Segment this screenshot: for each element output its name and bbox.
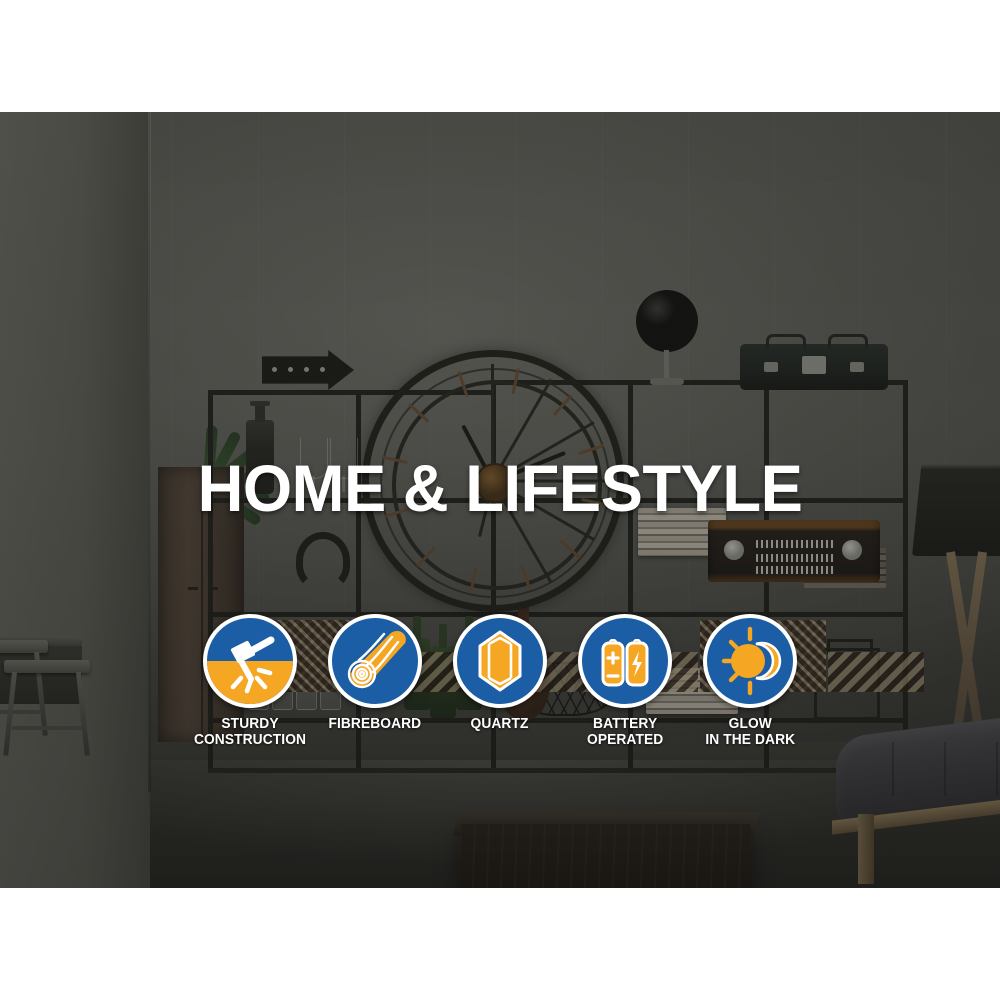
feature-badge-row: STURDY CONSTRUCTION	[0, 614, 1000, 748]
feature-badge-glow-in-the-dark[interactable]: GLOW IN THE DARK	[702, 614, 798, 748]
hammer-icon	[207, 618, 293, 704]
globe	[636, 290, 698, 352]
horseshoe-decor	[296, 532, 350, 590]
globe-base	[650, 378, 684, 385]
battery-icon	[582, 618, 668, 704]
badge-disc	[203, 614, 297, 708]
feature-badge-quartz[interactable]: QUARTZ	[452, 614, 548, 733]
feature-badge-sturdy-construction[interactable]: STURDY CONSTRUCTION	[202, 614, 298, 748]
shelf-base-rail	[208, 768, 908, 773]
feature-badge-fibreboard[interactable]: FIBREBOARD	[327, 614, 423, 733]
feature-badge-battery-operated[interactable]: BATTERY OPERATED	[577, 614, 673, 748]
badge-disc	[703, 614, 797, 708]
badge-label: GLOW IN THE DARK	[705, 717, 795, 748]
sun-moon-icon	[707, 618, 793, 704]
globe-stand	[664, 350, 669, 380]
badge-label: FIBREBOARD	[329, 717, 422, 733]
product-banner: HOME & LIFESTYLE	[0, 0, 1000, 1000]
badge-disc	[578, 614, 672, 708]
badge-label: STURDY CONSTRUCTION	[194, 717, 306, 748]
sofa-leg	[858, 814, 874, 884]
retro-radio	[708, 520, 880, 582]
cabinet-handle	[188, 587, 198, 590]
vintage-suitcase	[740, 344, 888, 390]
gem-icon	[457, 618, 543, 704]
badge-label: QUARTZ	[471, 717, 529, 733]
badge-disc	[328, 614, 422, 708]
coffee-table-grain	[460, 824, 750, 888]
badge-disc	[453, 614, 547, 708]
lifestyle-photo: HOME & LIFESTYLE	[0, 112, 1000, 888]
badge-label: BATTERY OPERATED	[587, 717, 663, 748]
wood-log-icon	[332, 618, 418, 704]
page-title: HOME & LIFESTYLE	[20, 455, 980, 521]
